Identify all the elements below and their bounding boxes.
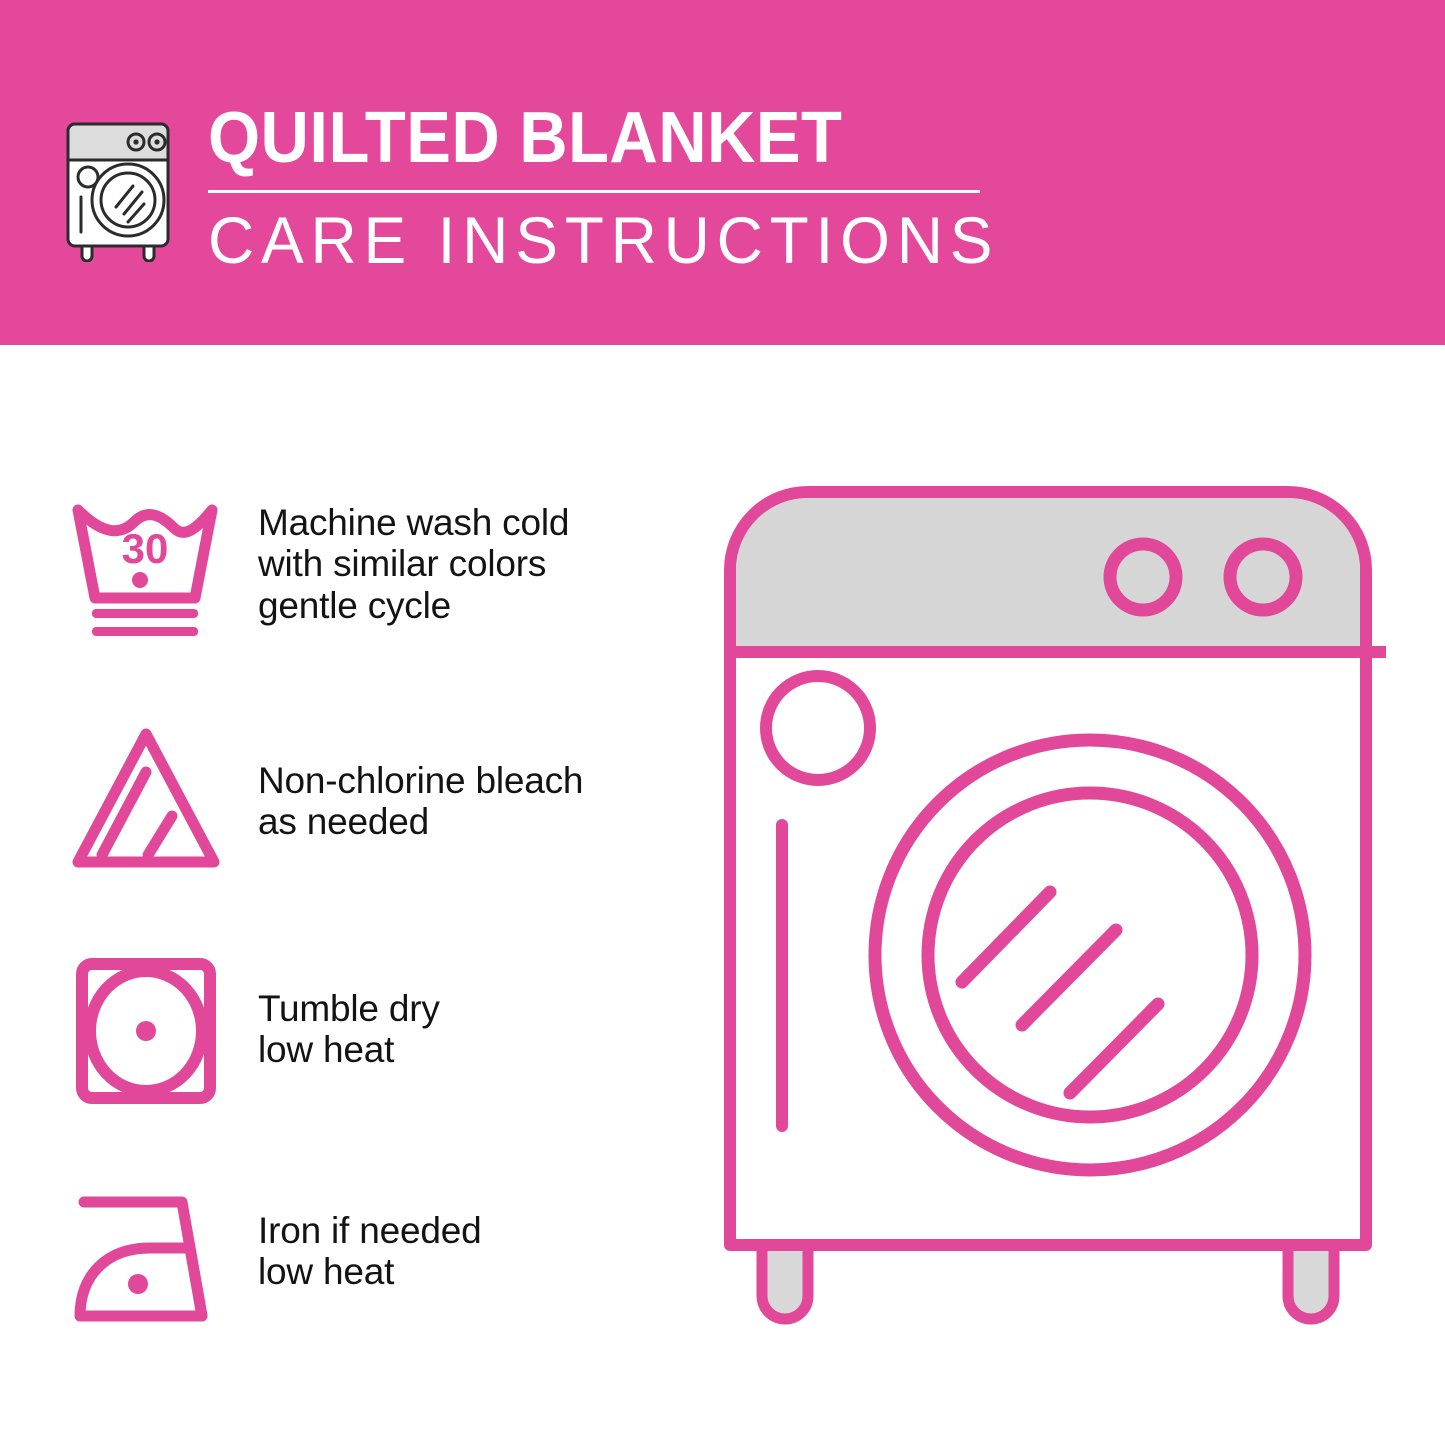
header-titles: QUILTED BLANKET CARE INSTRUCTIONS (208, 98, 1024, 273)
page-subtitle: CARE INSTRUCTIONS (208, 207, 999, 273)
header-banner: QUILTED BLANKET CARE INSTRUCTIONS (0, 0, 1445, 345)
care-line: Machine wash cold (258, 502, 569, 543)
wash-tub-icon: 30 (62, 490, 230, 650)
care-text-iron: Iron if needed low heat (258, 1180, 481, 1293)
knob-left (1110, 544, 1176, 610)
care-row-iron: Iron if needed low heat (62, 1180, 702, 1410)
care-line: Non-chlorine bleach (258, 760, 583, 801)
care-line: low heat (258, 1251, 481, 1292)
washing-machine-icon (58, 104, 188, 262)
care-text-bleach: Non-chlorine bleach as needed (258, 720, 583, 843)
care-line: gentle cycle (258, 585, 569, 626)
detergent-indicator (766, 676, 870, 780)
care-row-bleach: Non-chlorine bleach as needed (62, 720, 702, 950)
content-area: 30 Machine wash cold with similar colors… (0, 345, 1445, 1445)
care-line: low heat (258, 1029, 440, 1070)
tumble-dry-icon (62, 950, 230, 1110)
care-instruction-list: 30 Machine wash cold with similar colors… (62, 490, 702, 1410)
care-line: with similar colors (258, 543, 569, 584)
bleach-triangle-icon (62, 720, 230, 880)
page-title: QUILTED BLANKET (208, 102, 967, 174)
care-text-tumble-dry: Tumble dry low heat (258, 950, 440, 1071)
care-text-machine-wash: Machine wash cold with similar colors ge… (258, 490, 569, 626)
care-line: Iron if needed (258, 1210, 481, 1251)
iron-icon (62, 1180, 230, 1340)
wash-temperature-label: 30 (122, 525, 169, 572)
title-divider (208, 190, 980, 193)
care-row-machine-wash: 30 Machine wash cold with similar colors… (62, 490, 702, 720)
header-content: QUILTED BLANKET CARE INSTRUCTIONS (58, 98, 1024, 273)
care-line: as needed (258, 801, 583, 842)
washing-machine-graphic (718, 480, 1398, 1360)
care-line: Tumble dry (258, 988, 440, 1029)
knob-right (1230, 544, 1296, 610)
care-row-tumble-dry: Tumble dry low heat (62, 950, 702, 1180)
washing-machine-illustration (718, 480, 1398, 1360)
